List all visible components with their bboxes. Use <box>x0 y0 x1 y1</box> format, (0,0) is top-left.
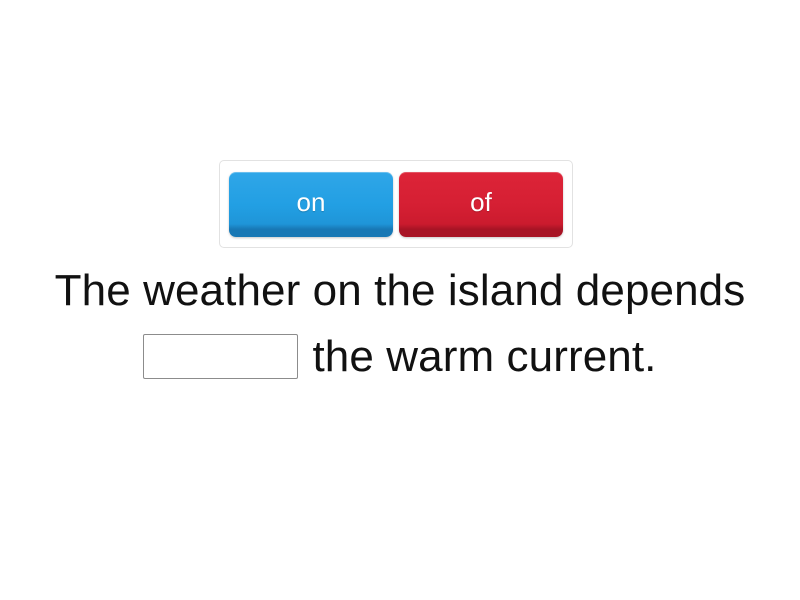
sentence-line-2-text: the warm current. <box>312 332 656 381</box>
word-tile-on-label: on <box>297 189 326 215</box>
exercise-canvas: on of The weather on the island depends … <box>0 0 800 600</box>
word-tile-on[interactable]: on <box>229 172 393 237</box>
sentence-prompt: The weather on the island depends the wa… <box>0 258 800 390</box>
answer-dropzone[interactable] <box>143 334 298 379</box>
sentence-line-1: The weather on the island depends <box>0 258 800 324</box>
sentence-line-2: the warm current. <box>0 324 800 390</box>
word-tile-of-label: of <box>470 189 492 215</box>
word-tile-of[interactable]: of <box>399 172 563 237</box>
word-tile-tray: on of <box>219 160 573 248</box>
